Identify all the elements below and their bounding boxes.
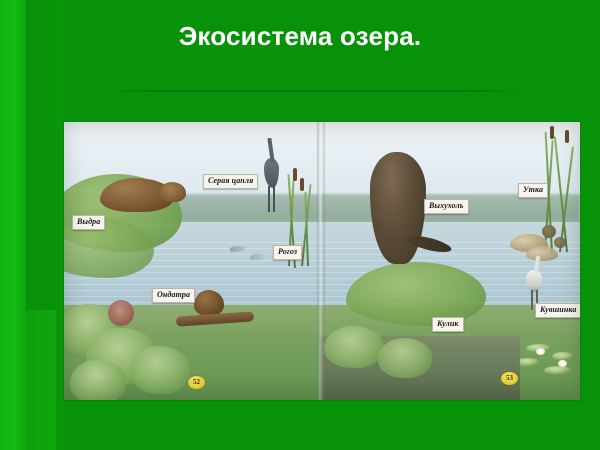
label-kulik: Кулик xyxy=(432,317,464,332)
decor-band-mid xyxy=(56,0,64,450)
book-page-right: 53 xyxy=(320,122,580,400)
decor-band-outer xyxy=(0,0,26,450)
label-vyhuhol: Выхухоль xyxy=(424,199,469,214)
bank-mound-right xyxy=(346,262,486,326)
foreground-foliage xyxy=(70,360,126,400)
foreground-foliage xyxy=(378,338,432,378)
fish-illustration xyxy=(250,254,266,260)
desman-illustration xyxy=(370,152,426,264)
foreground-foliage xyxy=(130,346,190,394)
label-vydra: Выдра xyxy=(72,215,105,230)
slide-canvas: Экосистема озера. xyxy=(0,0,600,450)
page-left-number: 52 xyxy=(188,376,205,389)
wader-illustration xyxy=(526,270,542,292)
water-lily-flower xyxy=(536,348,545,355)
page-right-number: 53 xyxy=(501,372,518,385)
fish-illustration xyxy=(230,246,246,252)
foreground-foliage xyxy=(324,326,384,368)
muskrat-illustration xyxy=(194,290,224,316)
book-page-left: 52 xyxy=(64,122,320,400)
decor-band-inner xyxy=(26,310,56,450)
heron-illustration xyxy=(264,158,279,188)
water-lily-flower xyxy=(558,360,567,367)
title-divider xyxy=(104,90,524,92)
page-title: Экосистема озера. xyxy=(60,22,540,51)
label-kuvshinka: Кувшинка xyxy=(535,303,580,318)
label-utka: Утка xyxy=(518,183,548,198)
label-rogoz: Рогоз xyxy=(273,245,302,260)
flower-cluster xyxy=(108,300,134,326)
book-gutter xyxy=(317,122,325,400)
lake-ecosystem-illustration: 52 xyxy=(64,122,580,400)
otter-illustration xyxy=(100,178,174,212)
duck-illustration xyxy=(526,246,558,261)
label-ondatra: Ондатра xyxy=(152,288,195,303)
label-seraya-tsaplya: Серая цапля xyxy=(203,174,258,189)
